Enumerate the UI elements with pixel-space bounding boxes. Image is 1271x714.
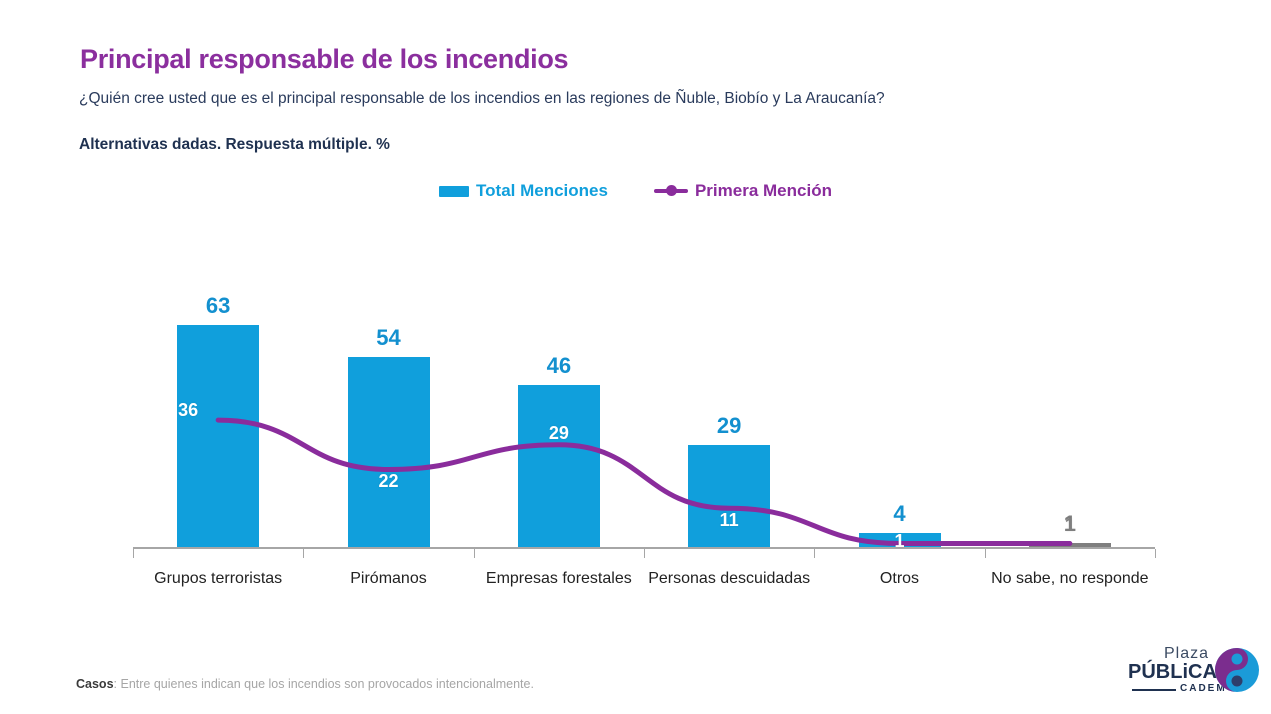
x-axis-label-0: Grupos terroristas xyxy=(133,568,303,590)
footer-note-label: Casos xyxy=(76,677,114,691)
line-series-primera-mencion xyxy=(133,250,1155,549)
line-value-label-2: 29 xyxy=(519,423,599,444)
footer-note-text: : Entre quienes indican que los incendio… xyxy=(114,677,534,691)
chart-legend: Total Menciones Primera Mención xyxy=(0,181,1271,201)
x-axis-label-5: No sabe, no responde xyxy=(985,568,1155,590)
legend-item-primera-mencion[interactable]: Primera Mención xyxy=(654,181,832,201)
x-axis-label-2: Empresas forestales xyxy=(474,568,644,590)
line-value-label-4: 1 xyxy=(860,531,940,552)
footer-note: Casos: Entre quienes indican que los inc… xyxy=(76,677,534,691)
x-axis-label-4: Otros xyxy=(814,568,984,590)
logo: Plaza PÚBLiCA CADEM xyxy=(1128,645,1258,701)
line-value-label-1: 22 xyxy=(349,471,429,492)
page-title: Principal responsable de los incendios xyxy=(80,44,568,75)
legend-item-total-menciones[interactable]: Total Menciones xyxy=(439,181,608,201)
line-value-label-3: 11 xyxy=(689,510,769,531)
x-axis-label-3: Personas descuidadas xyxy=(644,568,814,590)
x-axis-tick xyxy=(133,549,134,558)
x-axis-tick xyxy=(985,549,986,558)
x-axis-tick xyxy=(814,549,815,558)
x-axis-label-1: Pirómanos xyxy=(303,568,473,590)
page-subtitle-note: Alternativas dadas. Respuesta múltiple. … xyxy=(79,134,390,155)
legend-bar-swatch-icon xyxy=(439,186,469,197)
line-path xyxy=(218,420,1070,543)
logo-rule xyxy=(1132,689,1176,691)
legend-label-total-menciones: Total Menciones xyxy=(476,181,608,201)
line-value-label-0: 36 xyxy=(148,400,228,421)
cadem-circle-icon xyxy=(1214,647,1260,693)
x-axis-tick xyxy=(474,549,475,558)
page-subtitle: ¿Quién cree usted que es el principal re… xyxy=(79,88,959,109)
legend-label-primera-mencion: Primera Mención xyxy=(695,181,832,201)
x-axis-tick xyxy=(644,549,645,558)
logo-publica-text: PÚBLiCA xyxy=(1128,661,1217,684)
x-axis-tick xyxy=(303,549,304,558)
line-value-label-5: 1 xyxy=(1030,515,1110,536)
chart-plot-area: 63544629413622291111 xyxy=(133,250,1155,549)
legend-line-marker-icon xyxy=(654,184,688,198)
x-axis-tick xyxy=(1155,549,1156,558)
slide: Principal responsable de los incendios ¿… xyxy=(0,0,1271,714)
x-axis-labels: Grupos terroristasPirómanosEmpresas fore… xyxy=(133,568,1155,624)
